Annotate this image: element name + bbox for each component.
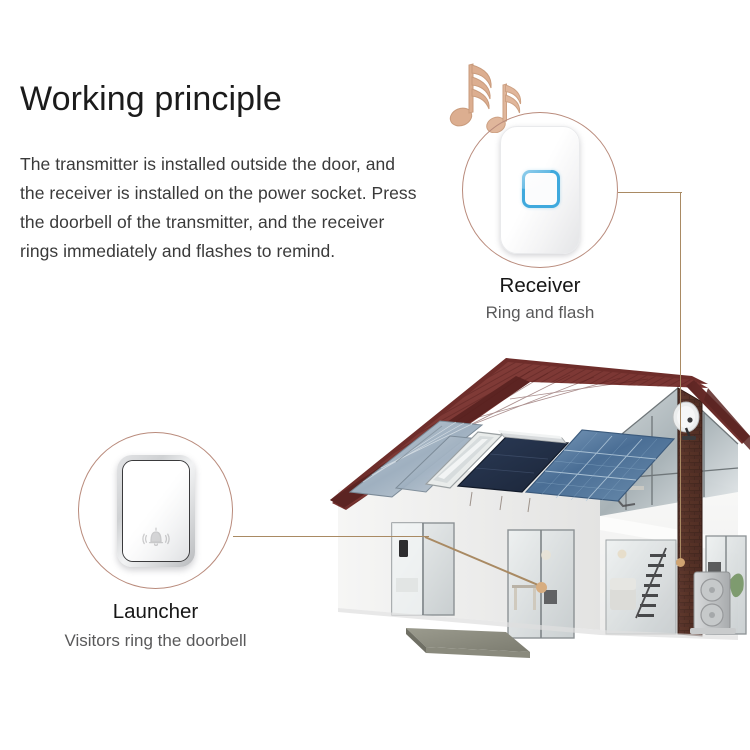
- launcher-button-face[interactable]: [122, 460, 190, 562]
- callout-title-launcher: Launcher: [78, 600, 233, 624]
- callout-title-receiver: Receiver: [462, 274, 618, 298]
- connector-line-receiver-horizontal: [618, 192, 682, 193]
- connector-line-launcher-horizontal: [233, 536, 429, 537]
- launcher-device[interactable]: [117, 455, 195, 567]
- receiver-device[interactable]: [500, 126, 580, 254]
- receiver-light-button[interactable]: [522, 170, 560, 208]
- connector-endpoint-receiver: [676, 558, 685, 567]
- illustration-canvas: Working principle The transmitter is ins…: [0, 0, 750, 750]
- heat-pump-unit: [690, 572, 736, 634]
- page-description: The transmitter is installed outside the…: [20, 150, 420, 266]
- page-title: Working principle: [20, 80, 282, 119]
- connector-endpoint-launcher: [536, 582, 547, 593]
- connector-line-receiver-vertical: [680, 192, 681, 565]
- callout-subtitle-launcher: Visitors ring the doorbell: [33, 631, 278, 651]
- modern-house-illustration: [330, 340, 750, 680]
- callout-subtitle-receiver: Ring and flash: [432, 303, 648, 323]
- bell-icon: [141, 526, 171, 550]
